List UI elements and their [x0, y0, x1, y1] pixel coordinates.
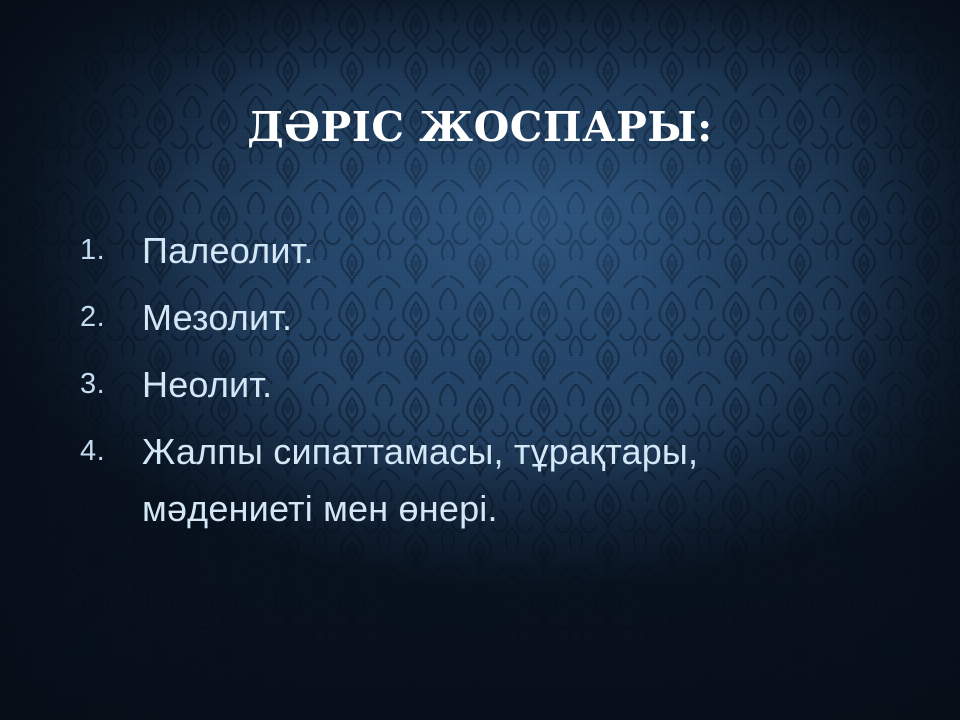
list-item-label-line1: Жалпы сипаттамасы, тұрақтары, [142, 431, 698, 472]
agenda-list: 1. Палеолит. 2. Мезолит. 3. Неолит. 4. Ж… [80, 228, 880, 553]
list-item-label: Мезолит. [142, 295, 880, 340]
list-item-label: Неолит. [142, 362, 880, 407]
slide-content: ДӘРІС ЖОСПАРЫ: 1. Палеолит. 2. Мезолит. … [0, 0, 960, 720]
list-item-label: Палеолит. [142, 228, 880, 273]
page-title: ДӘРІС ЖОСПАРЫ: [0, 103, 960, 151]
list-item-number: 3. [80, 362, 142, 407]
list-item: 2. Мезолит. [80, 295, 880, 340]
presentation-slide: ДӘРІС ЖОСПАРЫ: 1. Палеолит. 2. Мезолит. … [0, 0, 960, 720]
list-item-number: 2. [80, 295, 142, 340]
list-item-label: Жалпы сипаттамасы, тұрақтары, мәдениеті … [142, 429, 880, 531]
list-item: 4. Жалпы сипаттамасы, тұрақтары, мәдение… [80, 429, 880, 531]
list-item-label-line2: мәдениеті мен өнері. [142, 486, 880, 531]
list-item-number: 1. [80, 228, 142, 273]
list-item: 3. Неолит. [80, 362, 880, 407]
list-item: 1. Палеолит. [80, 228, 880, 273]
list-item-number: 4. [80, 429, 142, 474]
